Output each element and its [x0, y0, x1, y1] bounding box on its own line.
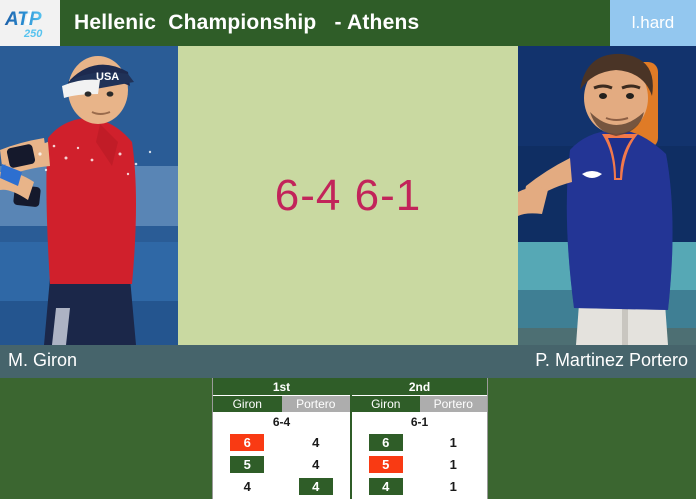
- game-away-cell: 1: [420, 479, 488, 494]
- game-home-value: 4: [369, 478, 403, 495]
- game-home-cell: 4: [213, 479, 282, 494]
- game-row: 4 1: [352, 475, 487, 497]
- game-away-value: 4: [312, 457, 319, 472]
- svg-text:250: 250: [23, 28, 43, 40]
- game-home-cell: 6: [213, 434, 282, 451]
- game-away-cell: 4: [282, 478, 351, 495]
- set-2nd-home-header: Giron: [352, 396, 420, 412]
- game-home-value: 6: [369, 434, 403, 451]
- set-1st-games: 6 4 5 4 4: [213, 431, 350, 497]
- game-home-cell: 5: [213, 456, 282, 473]
- svg-text:USA: USA: [96, 71, 119, 83]
- game-home-value: 5: [369, 456, 403, 473]
- set-1st-score: 6-4: [213, 413, 350, 431]
- final-score-panel: 6-4 6-1: [178, 46, 518, 345]
- game-away-value: 1: [450, 457, 457, 472]
- set-2nd-games: 6 1 5 1 4: [352, 431, 487, 497]
- game-home-cell: 6: [352, 434, 420, 451]
- player-right-photo: [518, 46, 696, 345]
- player-left-name: M. Giron: [8, 350, 77, 371]
- game-row: 4 4: [213, 475, 350, 497]
- game-away-value: 4: [299, 478, 333, 495]
- game-home-value: 5: [230, 456, 264, 473]
- game-away-value: 1: [450, 479, 457, 494]
- game-away-cell: 1: [420, 435, 488, 450]
- final-score: 6-4 6-1: [275, 171, 421, 221]
- set-label-1st: 1st: [213, 378, 350, 396]
- game-away-value: 1: [450, 435, 457, 450]
- set-2nd-players-header: Giron Portero: [352, 396, 487, 413]
- game-row: 5 4: [213, 453, 350, 475]
- game-away-cell: 4: [282, 457, 351, 472]
- game-home-cell: 4: [352, 478, 420, 495]
- surface-badge: l.hard: [610, 0, 696, 46]
- game-home-value: 6: [230, 434, 264, 451]
- game-row: 5 1: [352, 453, 487, 475]
- player-left-photo: USA: [0, 46, 178, 345]
- game-home-value: 4: [244, 479, 251, 494]
- tournament-title: Hellenic Championship - Athens: [60, 11, 610, 35]
- match-result-widget: ATP 250 Hellenic Championship - Athens l…: [0, 0, 696, 499]
- game-row: 6 1: [352, 431, 487, 453]
- tournament-header: ATP 250 Hellenic Championship - Athens l…: [0, 0, 696, 46]
- set-1st-home-header: Giron: [213, 396, 282, 412]
- game-away-value: 4: [312, 435, 319, 450]
- player-right-name: P. Martinez Portero: [535, 350, 688, 371]
- set-scoreboard: 1st Giron Portero 6-4 6 4 5: [212, 378, 488, 499]
- set-1st-away-header: Portero: [282, 396, 351, 412]
- atp-logo-icon: ATP 250: [4, 6, 56, 40]
- atp-250-logo: ATP 250: [0, 0, 60, 46]
- players-stage: USA 6-4 6-1: [0, 46, 696, 345]
- set-1st-players-header: Giron Portero: [213, 396, 350, 413]
- set-2nd-score: 6-1: [352, 413, 487, 431]
- set-column-1st: 1st Giron Portero 6-4 6 4 5: [213, 378, 350, 499]
- svg-text:ATP: ATP: [4, 9, 42, 30]
- set-2nd-away-header: Portero: [420, 396, 488, 412]
- game-away-cell: 1: [420, 457, 488, 472]
- game-home-cell: 5: [352, 456, 420, 473]
- set-label-2nd: 2nd: [352, 378, 487, 396]
- player-names-bar: M. Giron P. Martinez Portero: [0, 345, 696, 378]
- game-row: 6 4: [213, 431, 350, 453]
- set-column-2nd: 2nd Giron Portero 6-1 6 1 5: [350, 378, 487, 499]
- game-away-cell: 4: [282, 435, 351, 450]
